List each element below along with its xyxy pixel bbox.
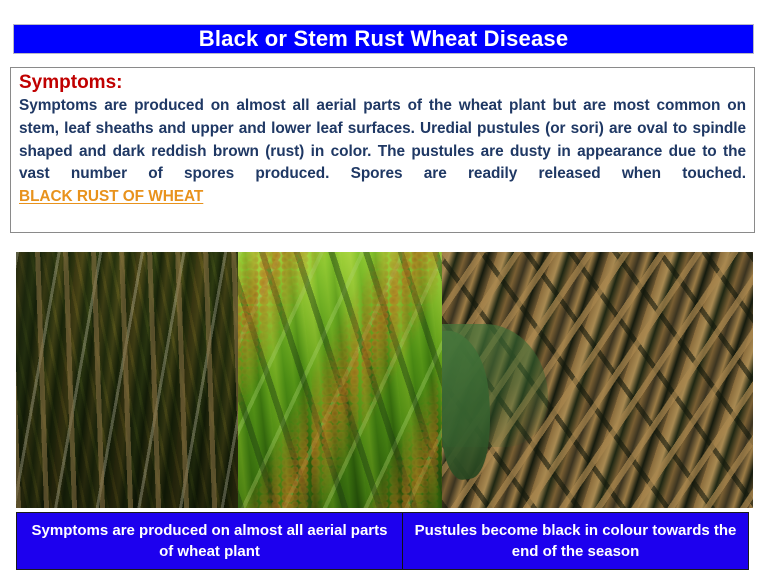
photo-strip (16, 252, 753, 508)
black-rust-of-wheat-link[interactable]: BLACK RUST OF WHEAT (19, 188, 203, 205)
caption-bar: Symptoms are produced on almost all aeri… (16, 512, 749, 570)
wheat-stems-brown-rust-photo (16, 252, 238, 508)
green-leaf-blade-shape (442, 326, 499, 481)
symptoms-body-paragraph: Symptoms are produced on almost all aeri… (19, 95, 746, 208)
caption-right: Pustules become black in colour towards … (403, 513, 748, 569)
symptoms-heading: Symptoms: (19, 72, 746, 94)
dry-wheat-black-pustules-photo (442, 252, 753, 508)
caption-left: Symptoms are produced on almost all aeri… (17, 513, 403, 569)
symptoms-body-text: Symptoms are produced on almost all aeri… (19, 97, 746, 182)
page-title: Black or Stem Rust Wheat Disease (199, 28, 569, 50)
green-leaf-pustules-photo (238, 252, 442, 508)
slide-title-banner: Black or Stem Rust Wheat Disease (13, 24, 754, 54)
symptoms-text-box: Symptoms: Symptoms are produced on almos… (10, 67, 755, 233)
